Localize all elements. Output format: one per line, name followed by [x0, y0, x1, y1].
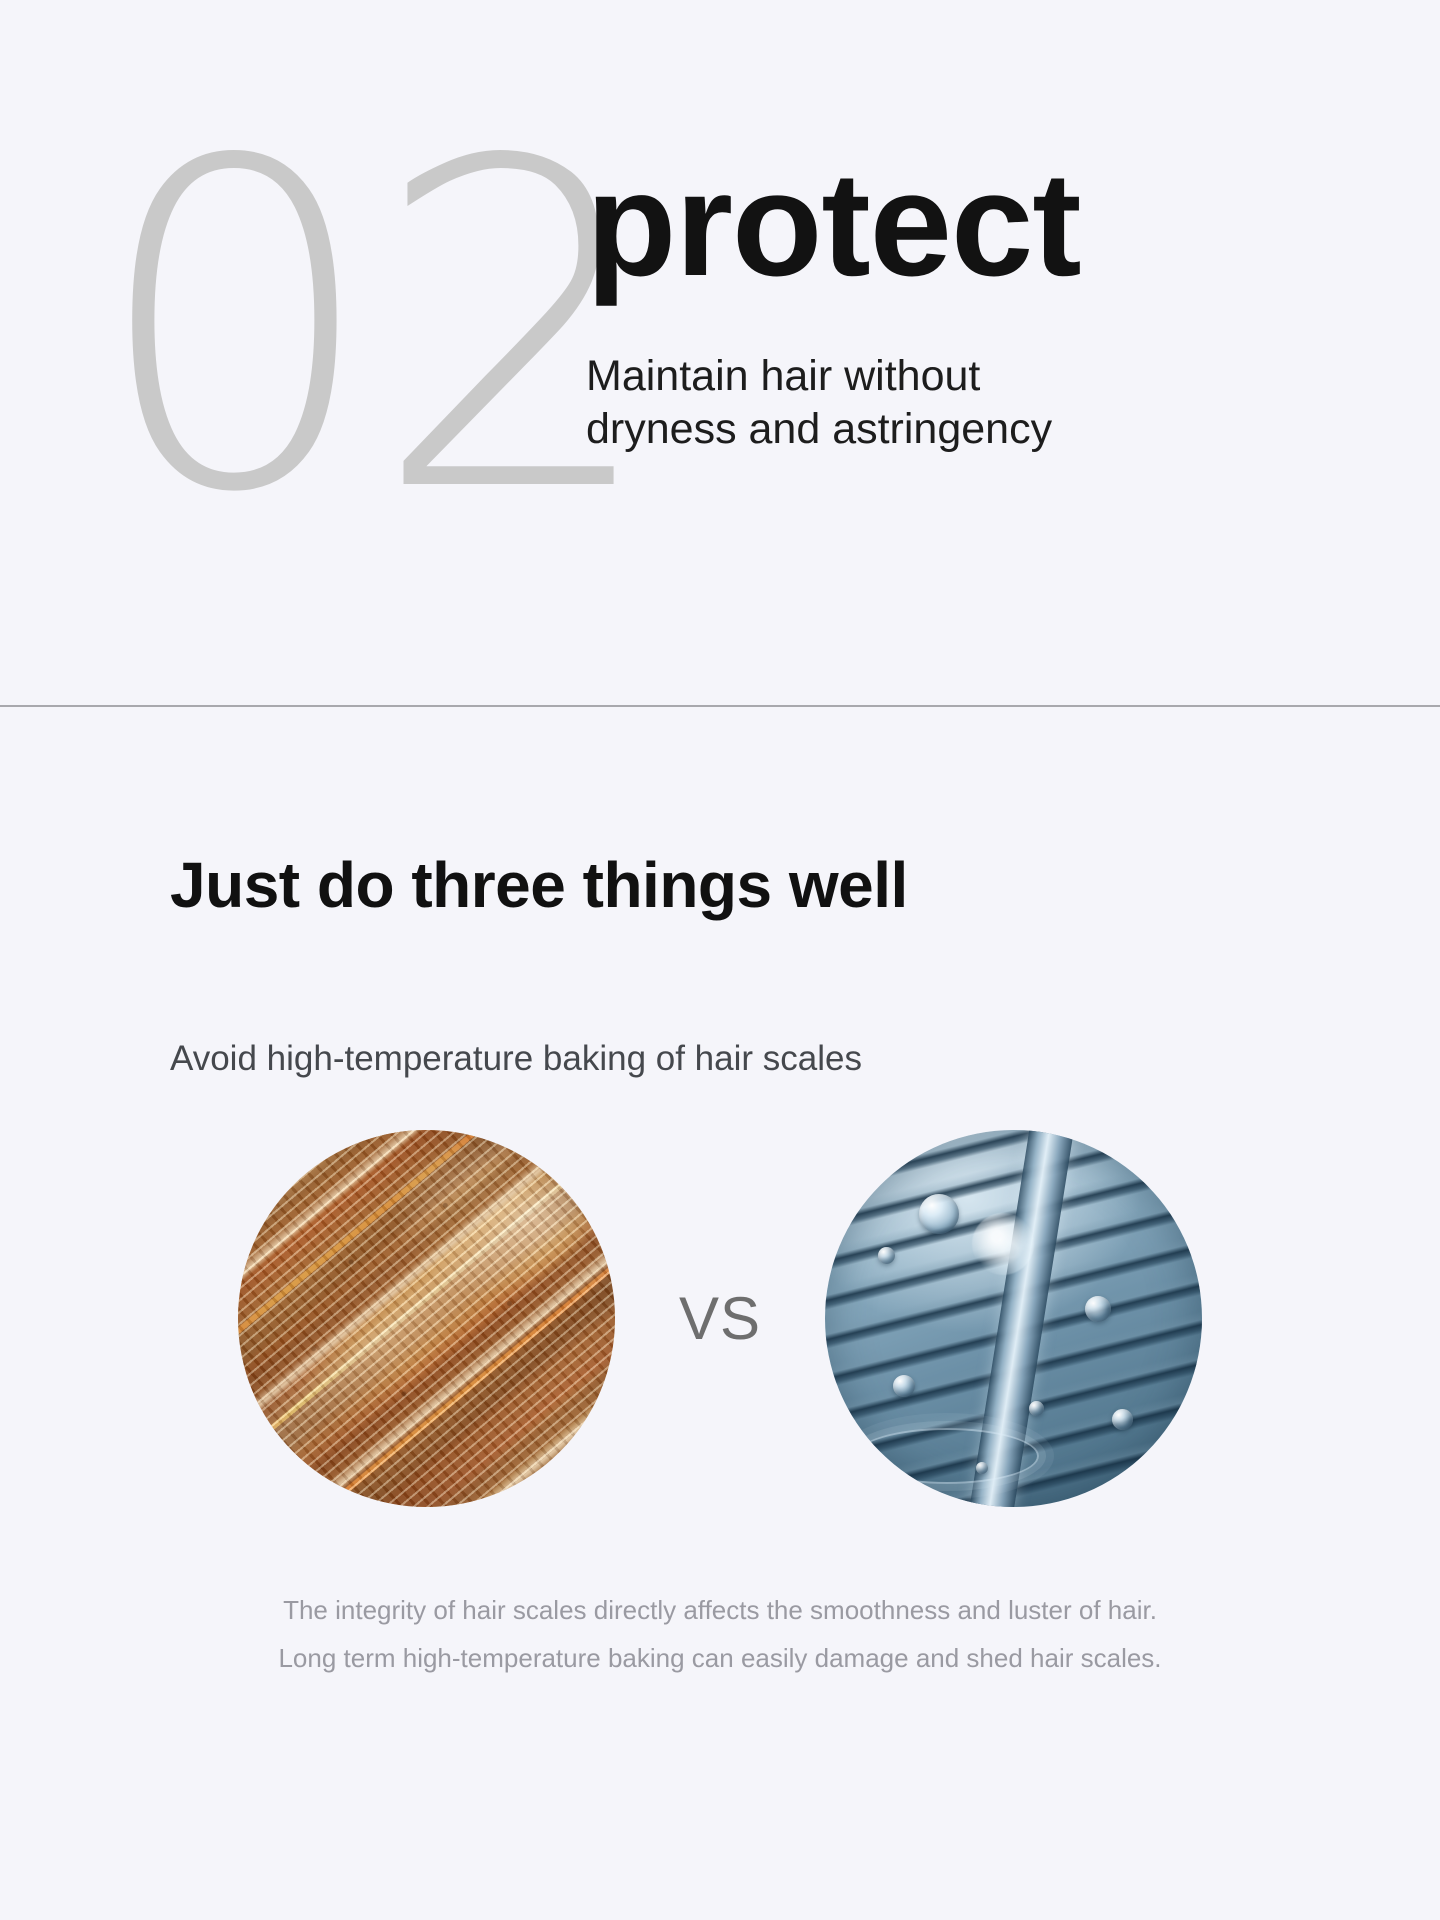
body-section: Just do three things well Avoid high-tem…	[0, 706, 1440, 1920]
water-droplet	[1085, 1296, 1111, 1322]
healthy-hair-image	[825, 1130, 1202, 1507]
water-droplet	[1029, 1401, 1044, 1416]
caption-block: The integrity of hair scales directly af…	[0, 1586, 1440, 1682]
damaged-hair-image	[238, 1130, 615, 1507]
caption-line-2: Long term high-temperature baking can ea…	[0, 1634, 1440, 1682]
vs-label: VS	[655, 1284, 785, 1353]
header-section: 02 protect Maintain hair without dryness…	[0, 0, 1440, 706]
step-number: 02	[92, 104, 653, 554]
header-subtitle-line-2: dryness and astringency	[586, 403, 1386, 456]
cuticle-grain-specks	[238, 1130, 615, 1507]
caption-line-1: The integrity of hair scales directly af…	[0, 1586, 1440, 1634]
header-text-block: protect Maintain hair without dryness an…	[586, 150, 1386, 456]
comparison-row: VS	[0, 1126, 1440, 1511]
header-subtitle-line-1: Maintain hair without	[586, 350, 1386, 403]
water-droplet	[976, 1462, 988, 1474]
water-droplet	[1112, 1409, 1133, 1430]
page-title: protect	[586, 150, 1386, 300]
body-heading: Just do three things well	[170, 850, 908, 920]
water-droplet	[878, 1247, 895, 1264]
water-splash	[972, 1213, 1034, 1275]
body-subheading: Avoid high-temperature baking of hair sc…	[170, 1038, 862, 1080]
header-subtitle: Maintain hair without dryness and astrin…	[586, 350, 1386, 456]
water-droplet	[893, 1375, 915, 1397]
